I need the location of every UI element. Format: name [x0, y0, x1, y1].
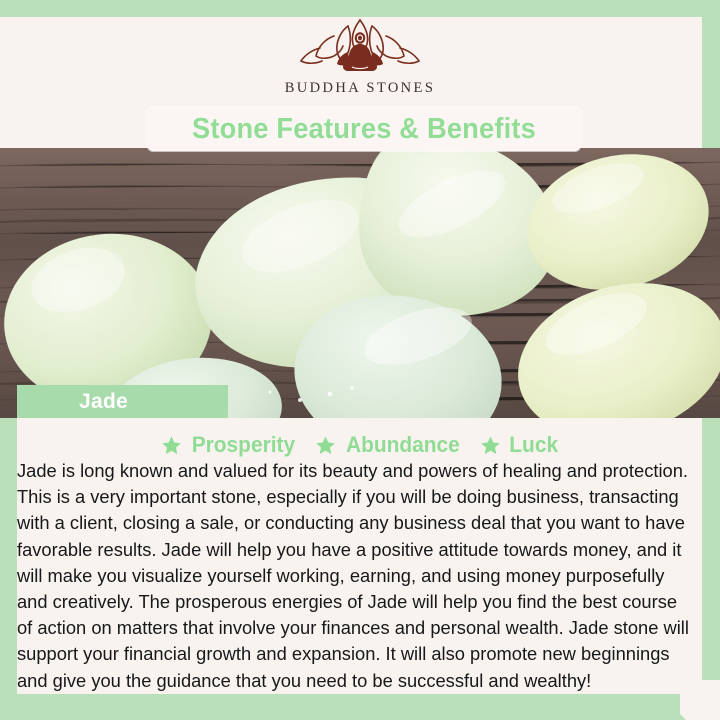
benefit-item: Prosperity [161, 432, 298, 458]
benefits-row: Prosperity Abundance Luck [17, 428, 703, 462]
benefit-item: Abundance [315, 432, 463, 458]
brand-name: BUDDHA STONES [285, 80, 436, 97]
brand-logo: BUDDHA STONES [0, 14, 720, 110]
stone-description: Jade is long known and valued for its be… [17, 458, 691, 694]
frame-band-bottom-corner [660, 694, 686, 720]
title-banner: Stone Features & Benefits [148, 107, 580, 151]
benefit-label: Luck [509, 432, 558, 458]
benefit-item: Luck [480, 432, 559, 458]
stone-name-banner: Jade [17, 385, 228, 418]
lotus-meditation-figure-icon [296, 14, 424, 76]
stone-name-label: Jade [79, 390, 128, 414]
benefit-label: Abundance [346, 432, 460, 458]
stone-features-infographic: BUDDHA STONES Stone Features & Benefits [0, 0, 720, 720]
frame-band-bottom [0, 694, 680, 720]
page-title: Stone Features & Benefits [192, 113, 536, 146]
jade-stones-image [0, 148, 720, 418]
star-icon [480, 435, 501, 456]
benefit-label: Prosperity [192, 432, 295, 458]
star-icon [161, 435, 182, 456]
star-icon [315, 435, 336, 456]
stone-photo [0, 148, 720, 418]
